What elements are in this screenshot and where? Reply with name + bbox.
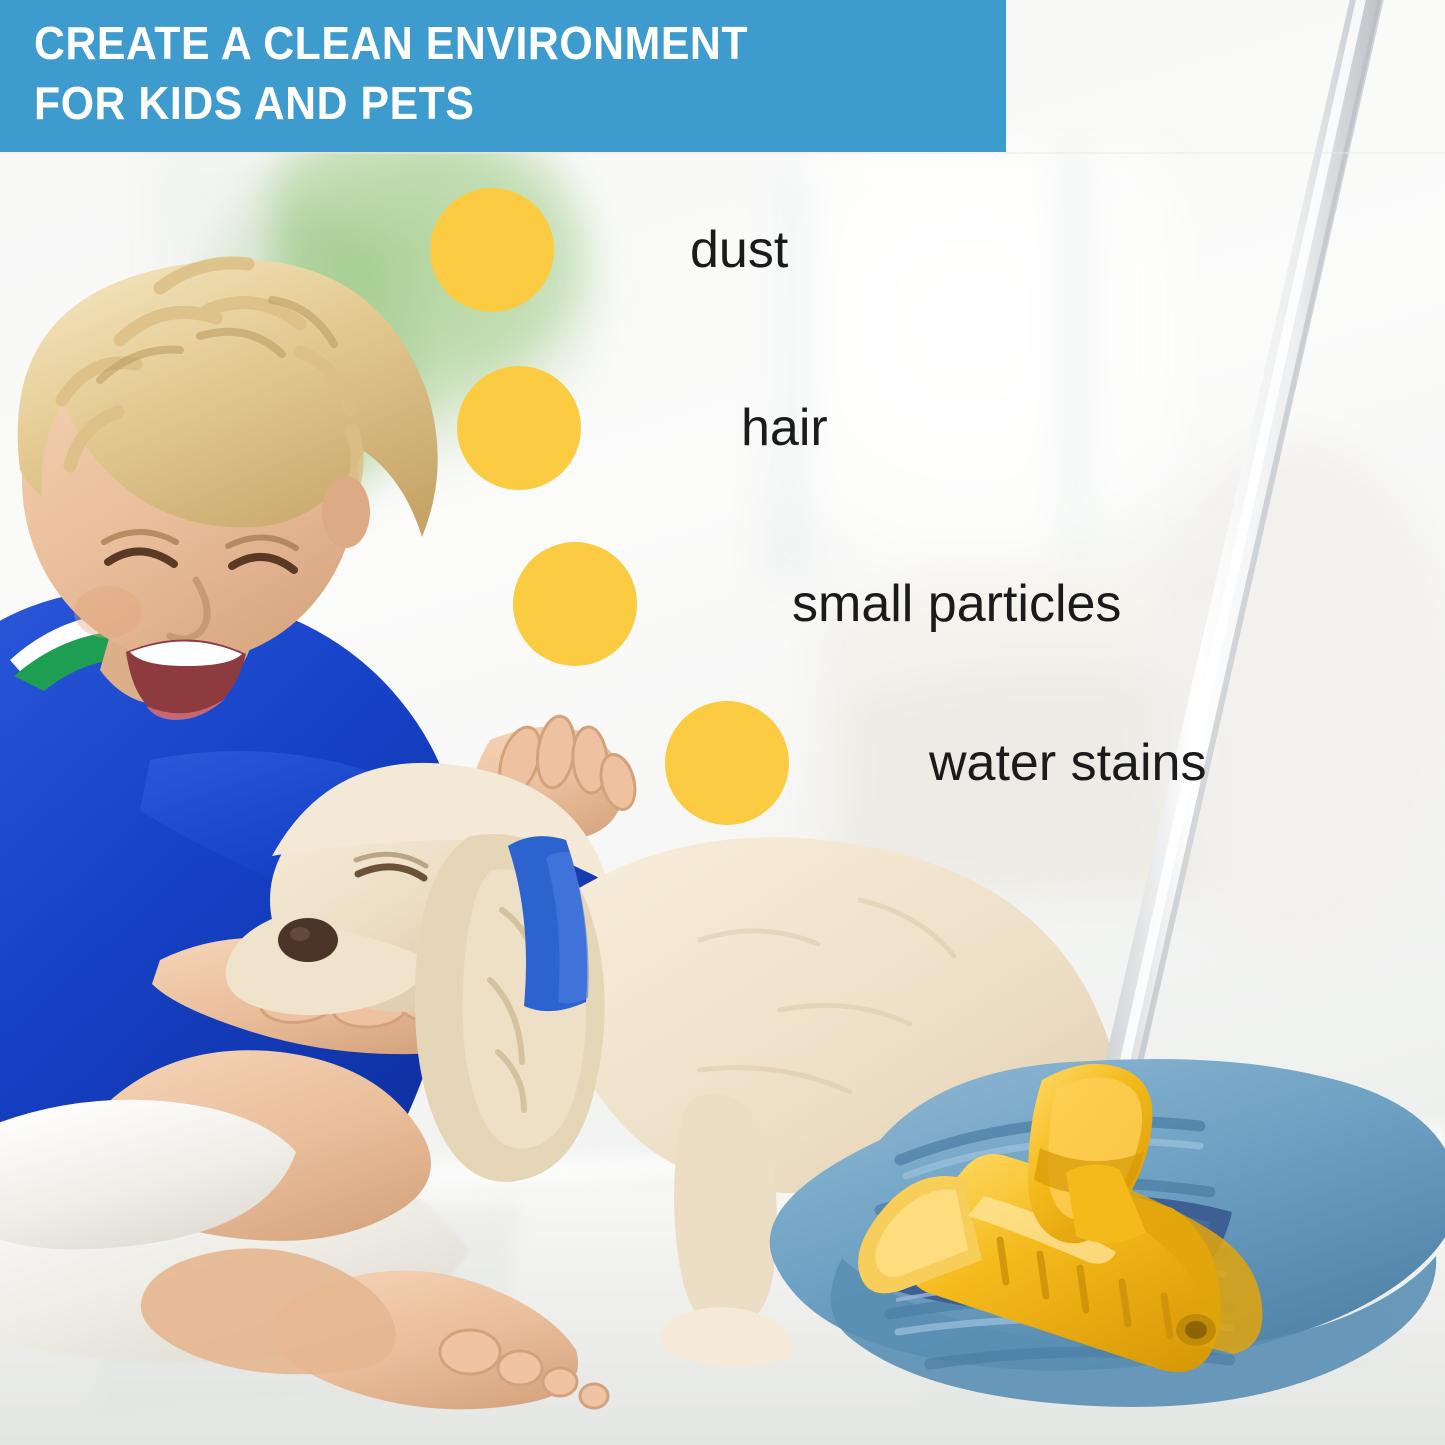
- callout-small-particles: small particles: [513, 542, 1121, 666]
- yellow-dot-icon: [665, 701, 789, 825]
- callout-dust: dust: [430, 188, 788, 312]
- callout-label-dust: dust: [690, 224, 788, 276]
- yellow-dot-icon: [430, 188, 554, 312]
- callout-hair: hair: [457, 366, 828, 490]
- callout-water-stains: water stains: [665, 701, 1206, 825]
- callout-label-water-stains: water stains: [929, 737, 1206, 789]
- yellow-dot-icon: [513, 542, 637, 666]
- header-banner: CREATE A CLEAN ENVIRONMENT FOR KIDS AND …: [0, 0, 1006, 152]
- yellow-dot-icon: [457, 366, 581, 490]
- header-banner-text: CREATE A CLEAN ENVIRONMENT FOR KIDS AND …: [34, 13, 927, 133]
- callout-label-hair: hair: [741, 402, 828, 454]
- feature-callouts: dust hair small particles water stains: [0, 0, 1445, 1445]
- callout-label-small-particles: small particles: [792, 578, 1121, 630]
- product-infographic: CREATE A CLEAN ENVIRONMENT FOR KIDS AND …: [0, 0, 1445, 1445]
